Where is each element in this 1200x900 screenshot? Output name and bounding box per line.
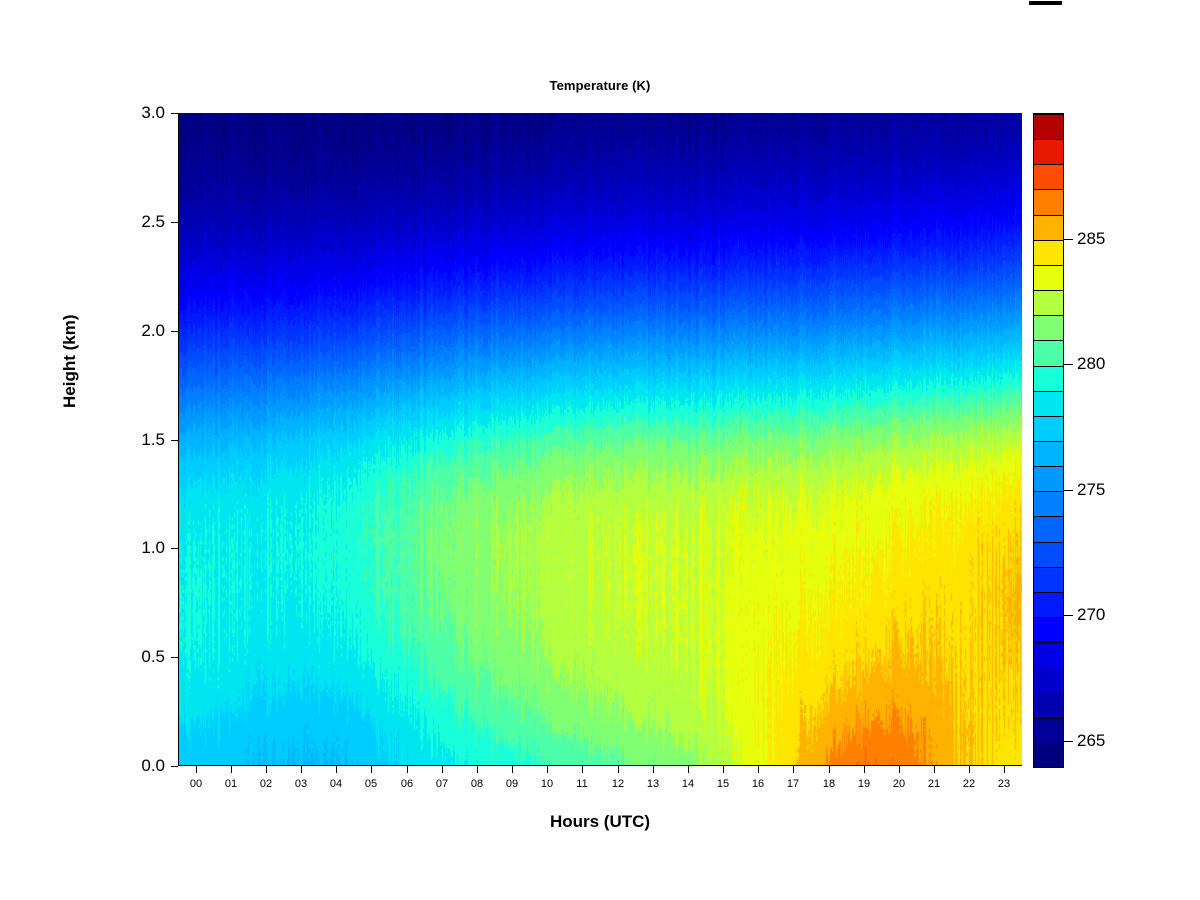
colorbar-band [1034,466,1063,491]
y-tick-mark [171,440,178,441]
x-tick-label: 18 [816,779,842,790]
x-tick-label: 08 [464,779,490,790]
y-tick-mark [171,766,178,767]
colorbar-tick-label: 285 [1077,230,1105,247]
colorbar-band [1034,441,1063,466]
x-tick-label: 14 [675,779,701,790]
colorbar-band [1034,693,1063,718]
colorbar-band [1034,416,1063,441]
x-tick-mark [653,766,654,773]
x-tick-label: 04 [323,779,349,790]
colorbar-band [1034,667,1063,692]
colorbar-band [1034,114,1063,139]
x-tick-label: 10 [534,779,560,790]
x-tick-mark [301,766,302,773]
x-tick-mark [758,766,759,773]
colorbar-band [1034,567,1063,592]
colorbar-tick-mark [1064,364,1073,365]
colorbar-band [1034,718,1063,743]
y-tick-mark [171,548,178,549]
x-tick-mark [266,766,267,773]
y-tick-label: 1.0 [141,539,165,556]
x-tick-label: 19 [851,779,877,790]
x-tick-label: 01 [218,779,244,790]
x-tick-mark [582,766,583,773]
y-axis-title: Height (km) [60,372,80,408]
colorbar-tick-label: 270 [1077,606,1105,623]
colorbar-tick-mark [1064,741,1073,742]
x-tick-label: 09 [499,779,525,790]
colorbar [1033,113,1064,768]
colorbar-band [1034,743,1063,767]
x-tick-mark [407,766,408,773]
x-tick-label: 05 [358,779,384,790]
y-tick-label: 1.5 [141,431,165,448]
colorbar-band [1034,366,1063,391]
colorbar-band [1034,315,1063,340]
x-tick-mark [336,766,337,773]
y-tick-mark [171,657,178,658]
colorbar-tick-label: 280 [1077,355,1105,372]
y-tick-label: 3.0 [141,104,165,121]
x-tick-label: 15 [710,779,736,790]
x-tick-mark [793,766,794,773]
colorbar-band [1034,491,1063,516]
x-tick-mark [442,766,443,773]
colorbar-band [1034,215,1063,240]
x-tick-label: 06 [394,779,420,790]
colorbar-tick-mark [1064,239,1073,240]
colorbar-band [1034,290,1063,315]
x-tick-label: 13 [640,779,666,790]
x-tick-label: 22 [956,779,982,790]
x-tick-label: 12 [605,779,631,790]
x-tick-label: 11 [569,779,595,790]
y-tick-mark [171,113,178,114]
y-tick-label: 0.5 [141,648,165,665]
colorbar-band [1034,164,1063,189]
heatmap-canvas [178,113,1022,766]
colorbar-tick-mark [1064,490,1073,491]
x-tick-mark [477,766,478,773]
colorbar-band [1034,617,1063,642]
x-tick-label: 00 [183,779,209,790]
x-tick-mark [512,766,513,773]
x-tick-mark [723,766,724,773]
x-tick-mark [1004,766,1005,773]
colorbar-tick-label: 265 [1077,732,1105,749]
colorbar-band [1034,391,1063,416]
colorbar-band [1034,542,1063,567]
top-right-artifact [1029,1,1062,5]
x-tick-label: 03 [288,779,314,790]
colorbar-band [1034,592,1063,617]
colorbar-tick-mark [1064,615,1073,616]
x-tick-mark [547,766,548,773]
x-tick-label: 17 [780,779,806,790]
x-tick-mark [196,766,197,773]
colorbar-band [1034,139,1063,164]
heatmap-plot-area [178,113,1022,766]
x-tick-label: 02 [253,779,279,790]
x-tick-mark [899,766,900,773]
x-tick-mark [688,766,689,773]
temperature-heatmap-figure: Temperature (K) 0.00.51.01.52.02.53.0 00… [0,0,1200,900]
colorbar-band [1034,340,1063,365]
colorbar-band [1034,240,1063,265]
x-tick-mark [231,766,232,773]
x-tick-label: 21 [921,779,947,790]
x-tick-label: 07 [429,779,455,790]
page-title: Temperature (K) [178,78,1022,93]
colorbar-tick-label: 275 [1077,481,1105,498]
colorbar-band [1034,642,1063,667]
y-tick-mark [171,222,178,223]
x-tick-label: 23 [991,779,1017,790]
x-tick-mark [829,766,830,773]
x-tick-mark [864,766,865,773]
colorbar-band [1034,265,1063,290]
y-tick-label: 0.0 [141,757,165,774]
x-tick-label: 16 [745,779,771,790]
y-tick-mark [171,331,178,332]
x-axis-title: Hours (UTC) [178,812,1022,832]
x-tick-mark [969,766,970,773]
x-tick-mark [618,766,619,773]
x-tick-mark [371,766,372,773]
y-tick-label: 2.0 [141,322,165,339]
y-tick-label: 2.5 [141,213,165,230]
colorbar-band [1034,516,1063,541]
colorbar-band [1034,189,1063,214]
x-tick-mark [934,766,935,773]
x-tick-label: 20 [886,779,912,790]
